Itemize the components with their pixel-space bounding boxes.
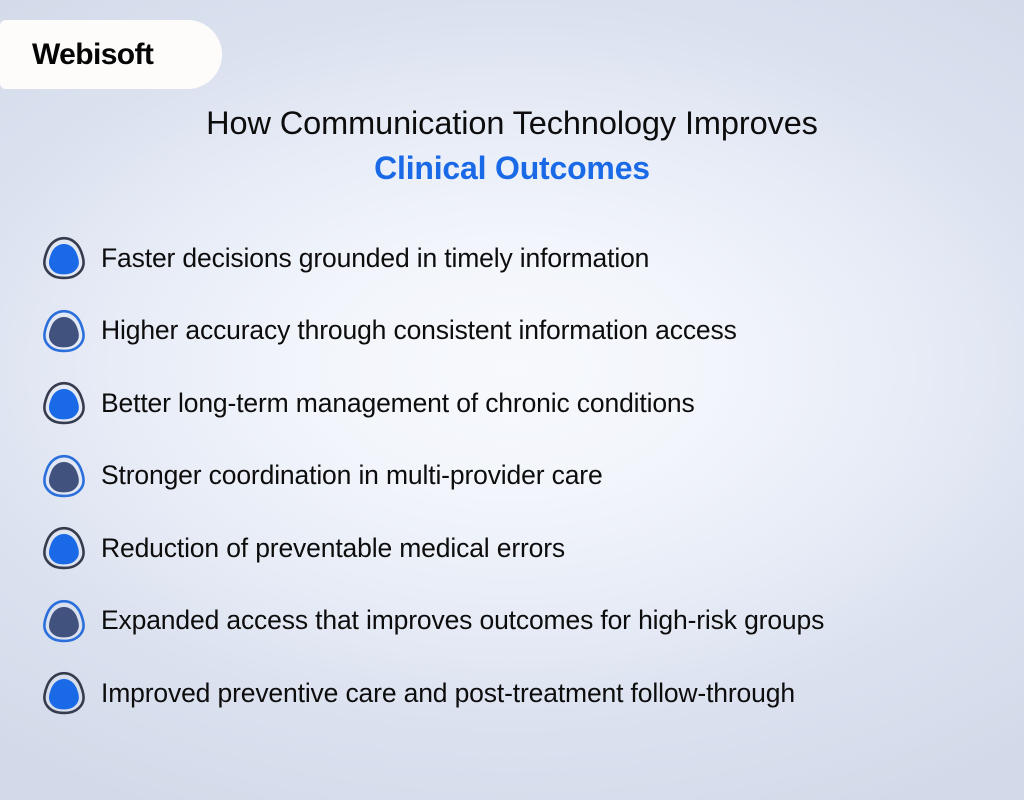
- list-item-label: Higher accuracy through consistent infor…: [101, 316, 737, 345]
- blob-bullet-icon: [41, 235, 87, 281]
- blob-fill: [49, 607, 79, 637]
- blob-fill: [49, 462, 79, 492]
- blob-fill: [49, 317, 79, 347]
- benefits-list: Faster decisions grounded in timely info…: [0, 222, 1024, 730]
- list-item-label: Reduction of preventable medical errors: [101, 534, 565, 563]
- title-line-highlight: Clinical Outcomes: [0, 146, 1024, 191]
- slide-canvas: Webisoft How Communication Technology Im…: [0, 0, 1024, 800]
- blob-bullet-icon: [41, 670, 87, 716]
- page-title: How Communication Technology Improves Cl…: [0, 101, 1024, 191]
- list-item: Improved preventive care and post-treatm…: [0, 657, 1024, 730]
- title-line-primary: How Communication Technology Improves: [0, 101, 1024, 146]
- brand-logo-text: Webisoft: [32, 38, 153, 72]
- blob-bullet-icon: [41, 308, 87, 354]
- list-item: Reduction of preventable medical errors: [0, 512, 1024, 585]
- blob-fill: [49, 244, 79, 274]
- blob-fill: [49, 389, 79, 419]
- list-item-label: Expanded access that improves outcomes f…: [101, 606, 824, 635]
- list-item: Expanded access that improves outcomes f…: [0, 585, 1024, 658]
- blob-bullet-icon: [41, 453, 87, 499]
- brand-logo-pill: Webisoft: [0, 20, 222, 89]
- blob-bullet-icon: [41, 525, 87, 571]
- list-item-label: Better long-term management of chronic c…: [101, 389, 695, 418]
- list-item: Better long-term management of chronic c…: [0, 367, 1024, 440]
- list-item: Faster decisions grounded in timely info…: [0, 222, 1024, 295]
- list-item-label: Faster decisions grounded in timely info…: [101, 244, 649, 273]
- list-item-label: Improved preventive care and post-treatm…: [101, 679, 795, 708]
- list-item: Stronger coordination in multi-provider …: [0, 440, 1024, 513]
- list-item-label: Stronger coordination in multi-provider …: [101, 461, 603, 490]
- blob-bullet-icon: [41, 598, 87, 644]
- blob-fill: [49, 534, 79, 564]
- blob-fill: [49, 679, 79, 709]
- blob-bullet-icon: [41, 380, 87, 426]
- list-item: Higher accuracy through consistent infor…: [0, 295, 1024, 368]
